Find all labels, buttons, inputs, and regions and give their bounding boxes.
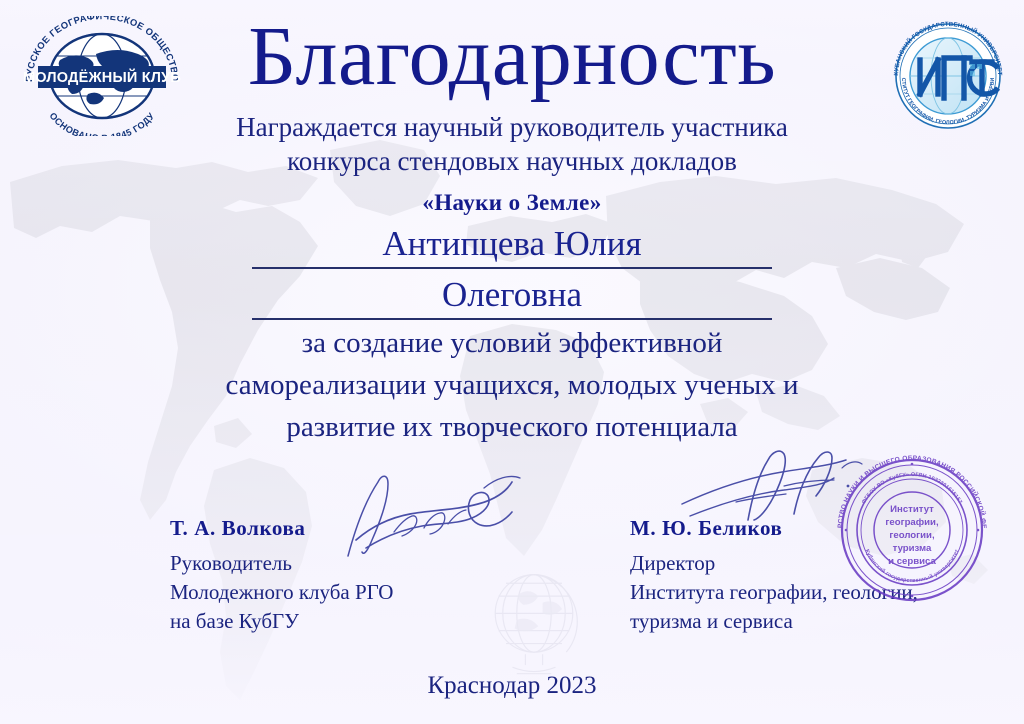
citation-text: за создание условий эффективной самореал…: [0, 322, 1024, 448]
stamp-center-line-4: туризма: [893, 543, 932, 554]
award-subtitle-line-2: конкурса стендовых научных докладов: [0, 144, 1024, 178]
signatory-role-line-1: Руководитель: [170, 549, 500, 578]
stamp-center-line-3: геологии,: [889, 530, 935, 541]
signatory-role-line-2: Молодежного клуба РГО: [170, 578, 500, 607]
signatory-role-line-3: на базе КубГУ: [170, 607, 500, 636]
citation-line-2: самореализации учащихся, молодых ученых …: [0, 364, 1024, 406]
recipient-name-line-1: Антипцева Юлия: [252, 222, 772, 269]
stamp-center-line-2: географии,: [885, 517, 939, 528]
recipient-block: Антипцева Юлия Олеговна: [0, 222, 1024, 320]
citation-line-1: за создание условий эффективной: [0, 322, 1024, 364]
recipient-name-line-2: Олеговна: [252, 273, 772, 320]
award-subtitle-line-1: Награждается научный руководитель участн…: [236, 112, 788, 142]
place-and-year: Краснодар 2023: [0, 672, 1024, 700]
stamp-center-line-1: Институт: [890, 504, 934, 515]
signature-block-left: Т. А. Волкова Руководитель Молодежного к…: [170, 516, 500, 636]
certificate-page: РУССКОЕ ГЕОГРАФИЧЕСКОЕ ОБЩЕСТВО ОСНОВАНО…: [0, 0, 1024, 724]
award-subtitle: Награждается научный руководитель участн…: [0, 110, 1024, 178]
stamp-center-line-5: и сервиса: [888, 556, 936, 567]
citation-line-3: развитие их творческого потенциала: [0, 406, 1024, 448]
official-stamp: МИНИСТЕРСТВО НАУКИ И ВЫСШЕГО ОБРАЗОВАНИЯ…: [826, 444, 998, 616]
page-title: Благодарность: [0, 14, 1024, 100]
contest-name: «Науки о Земле»: [0, 190, 1024, 216]
certificate-content: РУССКОЕ ГЕОГРАФИЧЕСКОЕ ОБЩЕСТВО ОСНОВАНО…: [0, 0, 1024, 724]
svg-text:ФГБОУ ВО «КубГУ» ОГРН 10223016: ФГБОУ ВО «КубГУ» ОГРН 1022301615157: [861, 472, 963, 505]
signatory-role-volkova: Руководитель Молодежного клуба РГО на ба…: [170, 549, 500, 636]
signatory-name-volkova: Т. А. Волкова: [170, 516, 500, 541]
